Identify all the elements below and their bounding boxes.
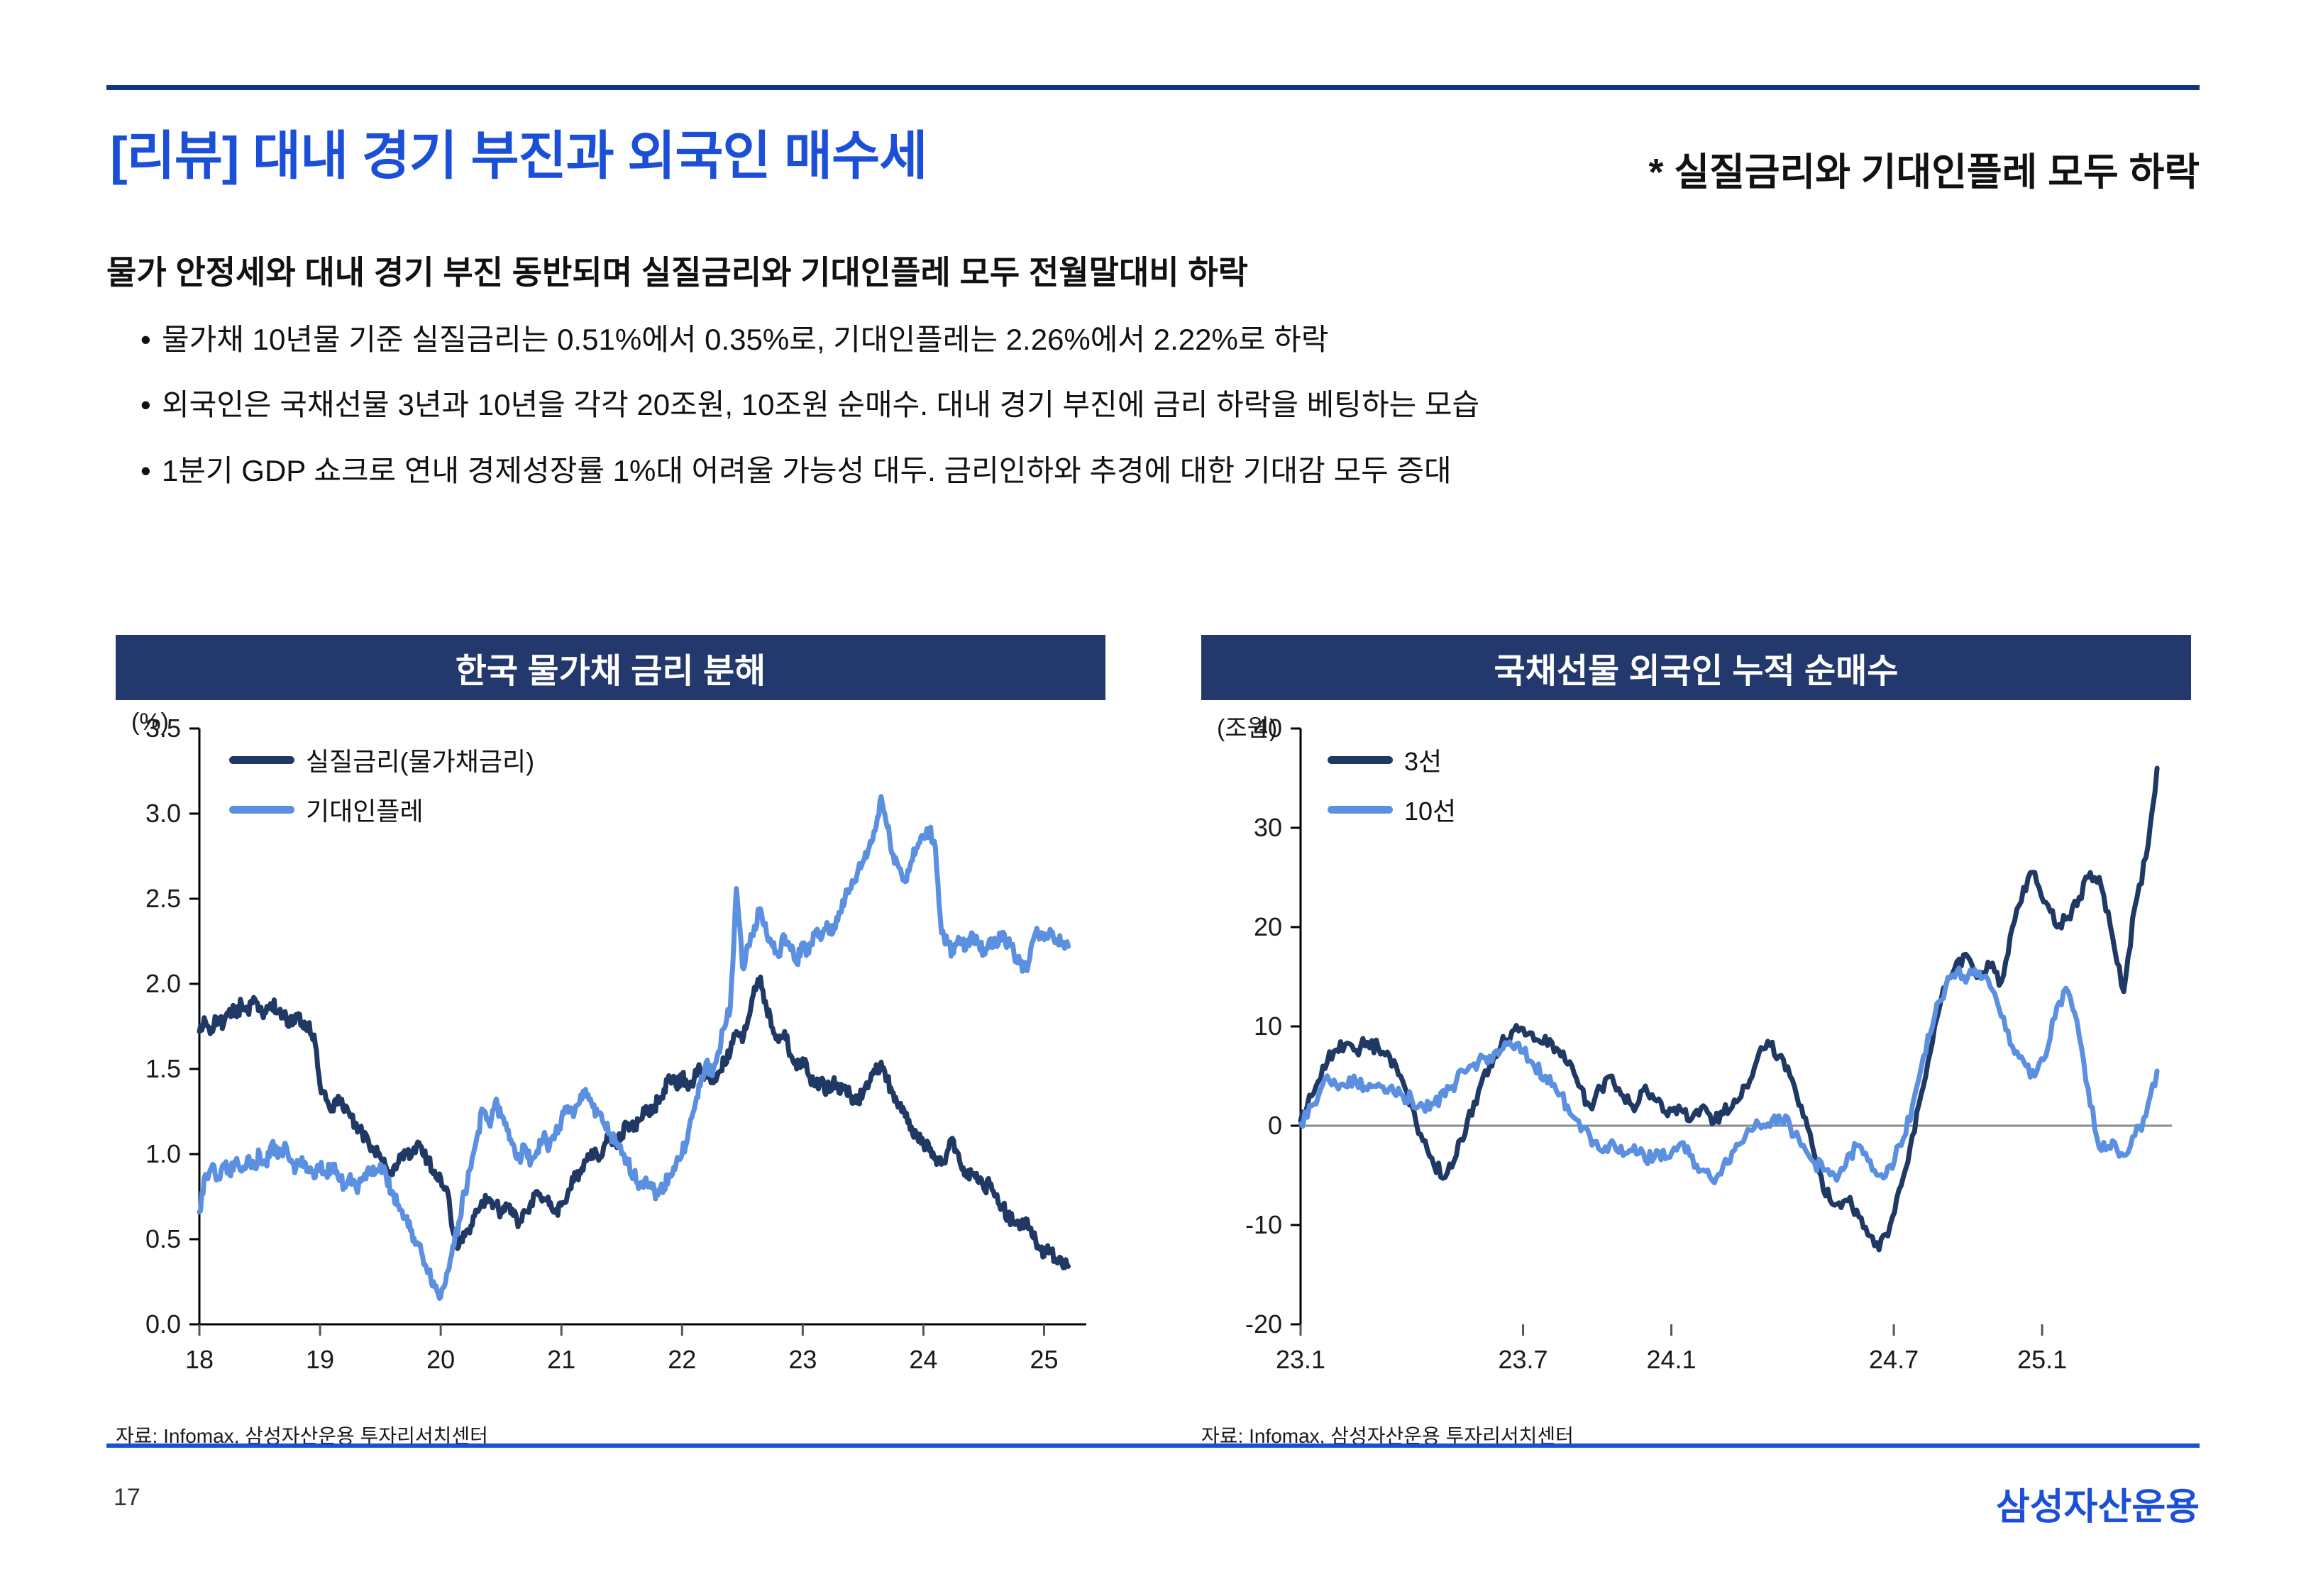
svg-text:3.0: 3.0 — [145, 799, 181, 828]
svg-text:20: 20 — [426, 1345, 455, 1374]
bullet-list: • 물가채 10년물 기준 실질금리는 0.51%에서 0.35%로, 기대인플… — [140, 323, 1479, 519]
legend-swatch-icon — [1328, 806, 1393, 814]
svg-text:22: 22 — [668, 1345, 696, 1374]
list-item: • 1분기 GDP 쇼크로 연내 경제성장률 1%대 어려울 가능성 대두. 금… — [140, 454, 1479, 488]
bullet-marker-icon: • — [140, 323, 162, 357]
chart-body-right: (조원) -20-1001020304023.123.724.124.725.1… — [1201, 700, 2191, 1424]
chart-body-left: (%) 0.00.51.01.52.02.53.03.5181920212223… — [116, 700, 1105, 1424]
svg-text:24.7: 24.7 — [1869, 1345, 1919, 1374]
page-title: [리뷰] 대내 경기 부진과 외국인 매수세 — [110, 113, 927, 189]
chart-title-right: 국채선물 외국인 누적 순매수 — [1201, 635, 2191, 700]
legend-label: 3선 — [1404, 741, 1442, 778]
chart-legend-right: 3선 10선 — [1328, 741, 1456, 841]
svg-text:0: 0 — [1268, 1111, 1282, 1140]
brand-logo: 삼성자산운용 — [1996, 1477, 2200, 1530]
svg-text:-10: -10 — [1245, 1210, 1282, 1239]
svg-text:2.0: 2.0 — [145, 969, 181, 998]
bullet-text: 1분기 GDP 쇼크로 연내 경제성장률 1%대 어려울 가능성 대두. 금리인… — [162, 454, 1452, 488]
bullet-text: 외국인은 국채선물 3년과 10년을 각각 20조원, 10조원 순매수. 대내… — [162, 388, 1479, 422]
svg-text:-20: -20 — [1245, 1309, 1282, 1339]
svg-text:0.5: 0.5 — [145, 1224, 181, 1253]
svg-text:40: 40 — [1254, 714, 1282, 743]
legend-item: 기대인플레 — [229, 791, 534, 828]
bullet-marker-icon: • — [140, 454, 162, 488]
svg-text:19: 19 — [306, 1345, 334, 1374]
svg-text:25.1: 25.1 — [2017, 1345, 2067, 1374]
chart-title-left: 한국 물가채 금리 분해 — [116, 635, 1105, 700]
svg-text:25: 25 — [1030, 1345, 1058, 1374]
svg-text:23.7: 23.7 — [1498, 1345, 1548, 1374]
list-item: • 외국인은 국채선물 3년과 10년을 각각 20조원, 10조원 순매수. … — [140, 388, 1479, 422]
svg-text:10: 10 — [1254, 1012, 1282, 1041]
header-rule — [106, 85, 2200, 90]
chart-panel-right: 국채선물 외국인 누적 순매수 (조원) -20-1001020304023.1… — [1201, 635, 2191, 1424]
svg-text:21: 21 — [547, 1345, 575, 1374]
lead-summary: 물가 안정세와 대내 경기 부진 동반되며 실질금리와 기대인플레 모두 전월말… — [106, 247, 1248, 294]
svg-text:30: 30 — [1254, 813, 1282, 842]
svg-text:23: 23 — [788, 1345, 817, 1374]
bullet-text: 물가채 10년물 기준 실질금리는 0.51%에서 0.35%로, 기대인플레는… — [162, 323, 1328, 357]
legend-label: 실질금리(물가채금리) — [306, 741, 534, 778]
legend-item: 3선 — [1328, 741, 1456, 778]
legend-item: 실질금리(물가채금리) — [229, 741, 534, 778]
svg-text:0.0: 0.0 — [145, 1309, 181, 1339]
bullet-marker-icon: • — [140, 388, 162, 422]
svg-text:23.1: 23.1 — [1276, 1345, 1325, 1374]
chart-legend-left: 실질금리(물가채금리) 기대인플레 — [229, 741, 534, 841]
header-note: * 실질금리와 기대인플레 모두 하락 — [1648, 140, 2200, 196]
svg-text:2.5: 2.5 — [145, 884, 181, 913]
legend-swatch-icon — [1328, 756, 1393, 764]
legend-swatch-icon — [229, 806, 294, 814]
legend-label: 10선 — [1404, 791, 1456, 828]
svg-text:24.1: 24.1 — [1647, 1345, 1697, 1374]
svg-text:1.0: 1.0 — [145, 1139, 181, 1168]
list-item: • 물가채 10년물 기준 실질금리는 0.51%에서 0.35%로, 기대인플… — [140, 323, 1479, 357]
svg-text:3.5: 3.5 — [145, 714, 181, 743]
footer-rule — [106, 1443, 2200, 1448]
chart-panel-left: 한국 물가채 금리 분해 (%) 0.00.51.01.52.02.53.03.… — [116, 635, 1105, 1424]
slide-root: [리뷰] 대내 경기 부진과 외국인 매수세 * 실질금리와 기대인플레 모두 … — [0, 0, 2306, 1596]
legend-item: 10선 — [1328, 791, 1456, 828]
svg-text:24: 24 — [909, 1345, 937, 1374]
legend-label: 기대인플레 — [306, 791, 424, 828]
svg-text:20: 20 — [1254, 912, 1282, 941]
page-number: 17 — [114, 1484, 140, 1512]
svg-text:1.5: 1.5 — [145, 1054, 181, 1083]
svg-text:18: 18 — [185, 1345, 214, 1374]
legend-swatch-icon — [229, 756, 294, 764]
